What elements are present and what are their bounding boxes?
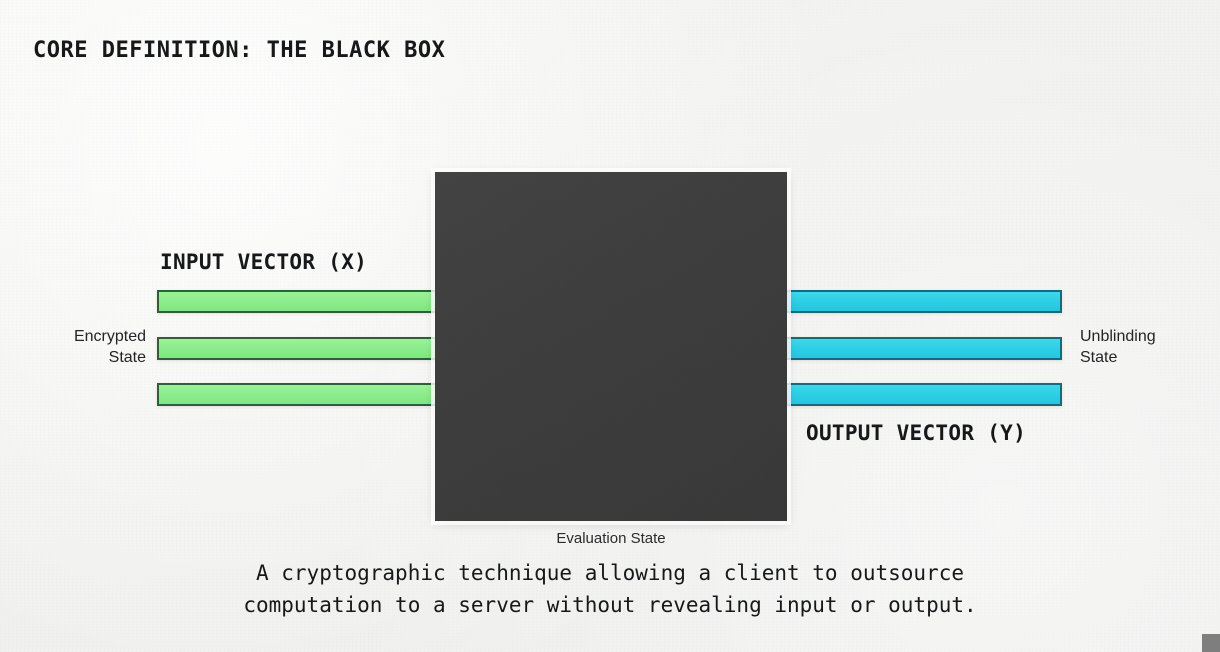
page-title: CORE DEFINITION: THE BLACK BOX — [33, 38, 445, 63]
input-bar-1 — [157, 290, 463, 313]
input-bar-3 — [157, 383, 463, 406]
output-vector-label: OUTPUT VECTOR (Y) — [806, 421, 1026, 445]
input-bar-2 — [157, 337, 463, 360]
input-vector-label: INPUT VECTOR (X) — [160, 250, 367, 274]
unblinding-state-label: Unblinding State — [1080, 326, 1215, 368]
black-box-shape — [435, 172, 787, 521]
evaluation-state-label: Evaluation State — [435, 530, 787, 547]
corner-marker — [1202, 634, 1220, 652]
output-bar-3 — [783, 383, 1062, 406]
output-bar-2 — [783, 337, 1062, 360]
encrypted-state-label: Encrypted State — [18, 326, 146, 368]
description-text: A cryptographic technique allowing a cli… — [0, 557, 1220, 621]
slide-canvas: CORE DEFINITION: THE BLACK BOX Evaluatio… — [0, 0, 1220, 652]
output-bar-1 — [783, 290, 1062, 313]
